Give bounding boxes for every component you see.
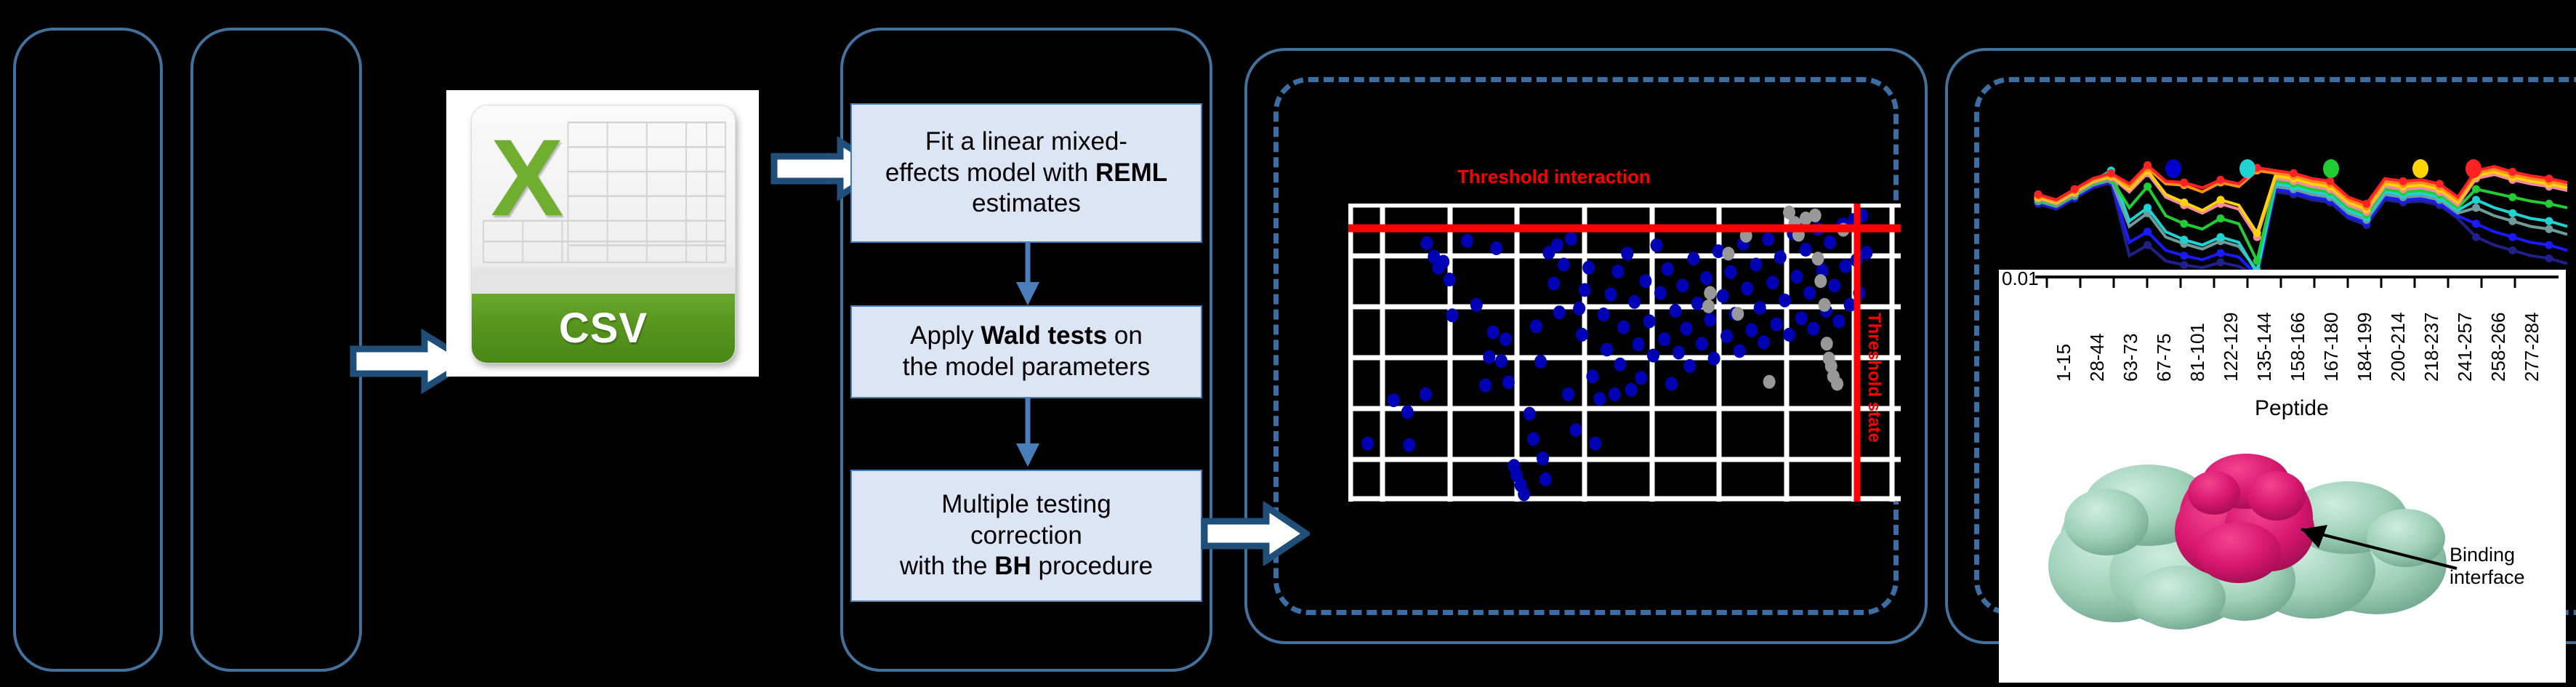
peptide-uptake-canvas — [2025, 131, 2576, 280]
legend-dot-t5 — [2466, 159, 2482, 178]
peptide-axis-title: Peptide — [2255, 396, 2329, 421]
arrow-wald-to-bh — [1012, 398, 1044, 470]
csv-export-card: X CSV — [446, 90, 759, 377]
legend-dot-t1 — [2165, 159, 2181, 178]
peptide-x-tick-label: 218-237 — [2420, 313, 2443, 382]
arrow-stage3-to-stage4 — [1201, 502, 1310, 566]
process-box-reml[interactable]: Fit a linear mixed-effects model with RE… — [850, 103, 1202, 243]
peptide-x-tick-label: 63-73 — [2120, 334, 2142, 382]
peptide-x-tick-label: 1-15 — [2053, 344, 2075, 382]
csv-file-icon[interactable]: X CSV — [471, 105, 735, 364]
peptide-x-tick-label: 67-75 — [2153, 334, 2175, 382]
peptide-x-tick-label: 81-101 — [2186, 323, 2209, 382]
peptide-x-tick-label: 277-284 — [2521, 313, 2543, 382]
peptide-x-tick-label: 122-129 — [2220, 313, 2242, 382]
volcano-scatter-canvas — [1348, 204, 1901, 502]
peptide-x-tick-label: 167-180 — [2320, 313, 2343, 382]
binding-interface-line1: Binding — [2450, 544, 2515, 566]
stage-panel-csv-export[interactable] — [190, 28, 362, 672]
volcano-scatter-plot[interactable] — [1348, 204, 1901, 502]
process-box-wald[interactable]: Apply Wald tests onthe model parameters — [850, 305, 1202, 398]
process-box-wald-text: Apply Wald tests onthe model parameters — [903, 321, 1150, 382]
scatter-point-group — [1361, 206, 1872, 502]
arrow-reml-to-wald — [1012, 243, 1044, 308]
peptide-x-tick-label: 158-166 — [2287, 313, 2309, 382]
process-box-bh-text: Multiple testingcorrectionwith the BH pr… — [900, 489, 1153, 582]
threshold-interaction-label: Threshold interaction — [1457, 166, 1651, 188]
csv-extension-label: CSV — [559, 304, 648, 353]
legend-dot-t3 — [2323, 159, 2339, 178]
peptide-x-tick-label: 28-44 — [2086, 334, 2109, 382]
peptide-x-tick-label: 200-214 — [2387, 313, 2410, 382]
peptide-x-tick-label: 241-257 — [2454, 313, 2476, 382]
excel-x-glyph-icon: X — [483, 111, 572, 244]
peptide-y-tick-001: 0.01 — [2002, 268, 2039, 290]
peptide-x-axis-line — [2035, 275, 2559, 291]
peptide-x-tick-label: 135-144 — [2253, 313, 2276, 382]
legend-dot-t4 — [2412, 159, 2428, 178]
stage-panel-data-collection[interactable] — [13, 28, 163, 672]
peptide-x-tick-label: 184-199 — [2354, 313, 2376, 382]
binding-interface-line2: interface — [2450, 566, 2525, 588]
binding-interface-annotation: Binding interface — [2450, 544, 2525, 589]
threshold-state-label: Threshold state — [1864, 313, 1884, 443]
process-box-reml-text: Fit a linear mixed-effects model with RE… — [858, 126, 1195, 220]
protein-structure-card[interactable]: Binding interface — [1999, 436, 2566, 654]
peptide-uptake-chart[interactable] — [2025, 131, 2576, 280]
process-box-bh[interactable]: Multiple testingcorrectionwith the BH pr… — [850, 470, 1202, 602]
peptide-x-tick-label: 258-266 — [2487, 313, 2510, 382]
csv-extension-band: CSV — [472, 294, 734, 363]
legend-dot-t2 — [2239, 159, 2255, 178]
